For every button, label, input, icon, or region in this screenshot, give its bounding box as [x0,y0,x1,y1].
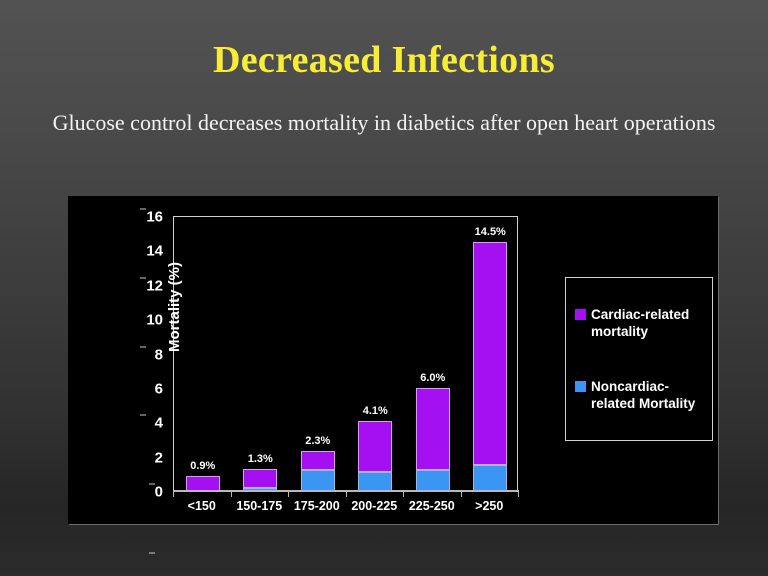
bar-segment-cardiac[interactable] [186,476,220,491]
slide-title: Decreased Infections [0,38,768,82]
y-tick-label: 6 [155,380,174,397]
y-tick-label: 2 [155,449,174,466]
y-tick-mark [149,484,155,485]
legend-item[interactable]: Cardiac-related mortality [575,306,706,340]
legend-swatch-icon [575,309,586,320]
y-tick-label: 16 [146,209,174,226]
x-tick-label: 175-200 [294,499,340,513]
plot-area: Mortality (%) 0246810121416 0.9%1.3%2.3%… [173,216,518,491]
bar-value-label: 4.1% [363,405,388,417]
x-tick-mark [173,490,174,497]
x-tick-mark [231,490,232,497]
bar-column[interactable] [186,476,220,491]
x-tick-mark [461,490,462,497]
bar-column[interactable] [416,388,450,491]
y-tick-mark [140,415,146,416]
bar-value-label: 14.5% [475,226,506,238]
x-tick-mark [518,490,519,497]
bar-segment-cardiac[interactable] [416,388,450,471]
y-tick-label: 14 [146,243,174,260]
bar-column[interactable] [301,451,335,491]
bar-segment-noncardiac[interactable] [301,470,335,491]
x-tick-label: 200-225 [351,499,397,513]
legend-item[interactable]: Noncardiac-related Mortality [575,378,706,412]
bar-value-label: 6.0% [420,372,445,384]
y-tick-label: 4 [155,415,174,432]
x-tick-label: <150 [188,499,216,513]
y-tick-mark [140,346,146,347]
bar-segment-cardiac[interactable] [243,469,277,488]
y-tick-mark [140,209,146,210]
x-tick-mark [346,490,347,497]
slide-canvas: Decreased Infections Glucose control dec… [0,0,768,576]
bar-value-label: 2.3% [305,435,330,447]
x-tick-mark [288,490,289,497]
slide-subtitle: Glucose control decreases mortality in d… [46,108,722,138]
x-tick-mark [403,490,404,497]
chart-panel: Mortality (%) 0246810121416 0.9%1.3%2.3%… [68,196,718,524]
bar-column[interactable] [358,421,392,491]
bar-segment-cardiac[interactable] [358,421,392,473]
bar-column[interactable] [473,242,507,491]
legend-swatch-icon [575,381,586,392]
bar-segment-cardiac[interactable] [301,451,335,470]
y-tick-label: 12 [146,277,174,294]
y-tick-mark [149,552,155,553]
legend-label: Cardiac-related mortality [591,306,706,340]
bar-segment-noncardiac[interactable] [473,465,507,491]
x-tick-label: 150-175 [236,499,282,513]
bar-value-label: 0.9% [190,460,215,472]
bar-value-label: 1.3% [248,453,273,465]
bar-segment-noncardiac[interactable] [358,472,392,491]
y-tick-label: 0 [155,484,174,501]
legend-label: Noncardiac-related Mortality [591,378,706,412]
y-tick-mark [140,277,146,278]
chart-legend: Cardiac-related mortalityNoncardiac-rela… [565,277,713,441]
y-tick-label: 8 [155,346,174,363]
bar-segment-noncardiac[interactable] [416,470,450,491]
y-tick-label: 10 [146,312,174,329]
bar-segment-cardiac[interactable] [473,242,507,465]
x-tick-label: 225-250 [409,499,455,513]
x-tick-label: >250 [475,499,503,513]
y-axis-label: Mortality (%) [166,262,183,352]
bar-column[interactable] [243,469,277,491]
